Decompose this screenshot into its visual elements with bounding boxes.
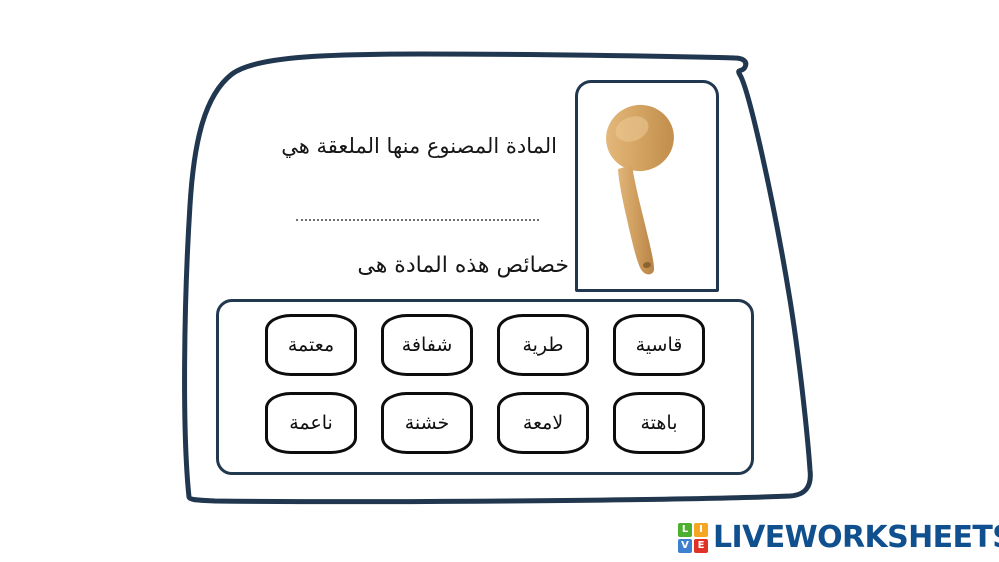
logo-tiles: L I V E <box>678 523 708 553</box>
question-2-text: خصائص هذه المادة هى <box>357 252 569 280</box>
option-mutima[interactable]: معتمة <box>265 314 357 376</box>
logo-tile-v: V <box>678 539 692 553</box>
worksheet-canvas: المادة المصنوع منها الملعقة هي خصائص هذه… <box>0 0 999 562</box>
liveworksheets-logo[interactable]: L I V E LIVEWORKSHEETS <box>678 521 999 555</box>
question-1-text: المادة المصنوع منها الملعقة هي <box>281 133 557 159</box>
option-tariya[interactable]: طرية <box>497 314 589 376</box>
wooden-spoon-icon <box>578 83 716 289</box>
options-container: قاسية طرية شفافة معتمة باهتة لامعة خشنة … <box>216 299 754 475</box>
options-row-2: باهتة لامعة خشنة ناعمة <box>219 392 751 454</box>
logo-tile-e: E <box>694 539 708 553</box>
logo-tile-i: I <box>694 523 708 537</box>
option-bahita[interactable]: باهتة <box>613 392 705 454</box>
option-lamia[interactable]: لامعة <box>497 392 589 454</box>
option-shaffafa[interactable]: شفافة <box>381 314 473 376</box>
logo-tile-l: L <box>678 523 692 537</box>
spoon-image-card <box>575 80 719 292</box>
options-row-1: قاسية طرية شفافة معتمة <box>219 314 751 376</box>
option-khashina[interactable]: خشنة <box>381 392 473 454</box>
option-qasiya[interactable]: قاسية <box>613 314 705 376</box>
answer-blank-line[interactable] <box>296 205 539 221</box>
option-naima[interactable]: ناعمة <box>265 392 357 454</box>
handdrawn-frame <box>0 0 999 562</box>
logo-wordmark: LIVEWORKSHEETS <box>711 523 999 553</box>
